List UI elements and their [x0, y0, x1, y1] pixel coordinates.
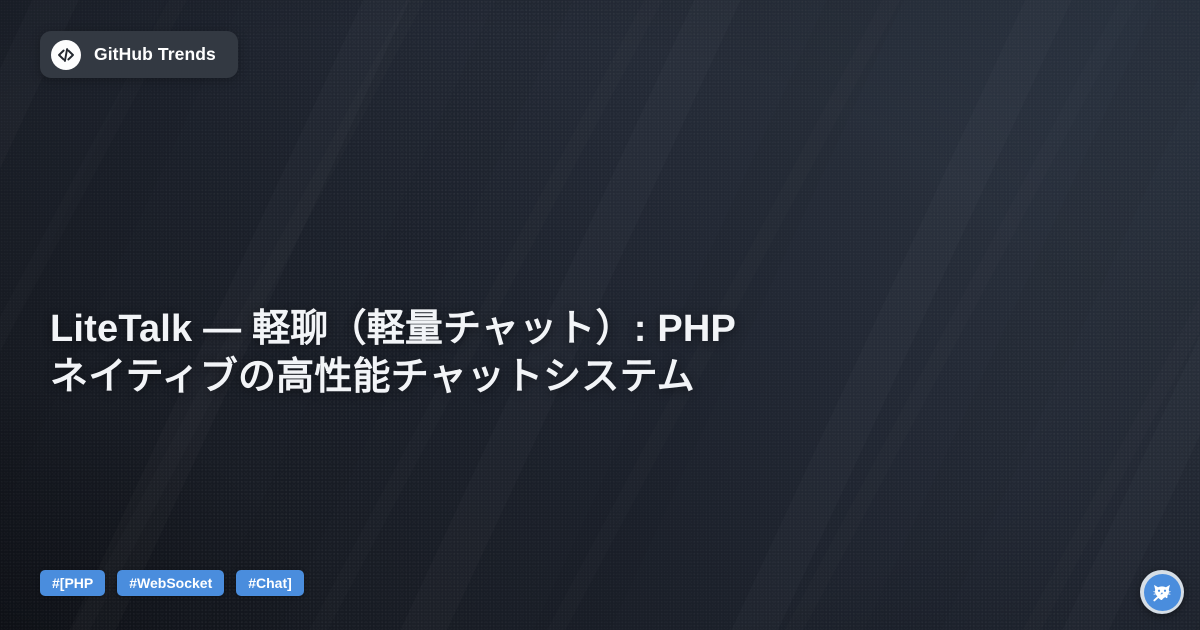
- tag-list: #[PHP #WebSocket #Chat]: [40, 570, 304, 596]
- page-title-line-1: LiteTalk — 軽聊（軽量チャット）: PHP: [50, 305, 1130, 353]
- social-share-card: GitHub Trends LiteTalk — 軽聊（軽量チャット）: PHP…: [0, 0, 1200, 630]
- card-content: GitHub Trends LiteTalk — 軽聊（軽量チャット）: PHP…: [0, 0, 1200, 630]
- brand-badge: GitHub Trends: [40, 31, 238, 78]
- page-title-line-2: ネイティブの高性能チャットシステム: [50, 353, 1130, 401]
- page-title: LiteTalk — 軽聊（軽量チャット）: PHP ネイティブの高性能チャット…: [50, 305, 1130, 402]
- cat-trend-logo-disc: [1144, 574, 1181, 611]
- code-brackets-icon: [51, 40, 81, 70]
- brand-label: GitHub Trends: [94, 44, 216, 65]
- tag-chip[interactable]: #[PHP: [40, 570, 105, 596]
- cat-trend-logo-icon: [1140, 570, 1184, 614]
- tag-chip[interactable]: #WebSocket: [117, 570, 224, 596]
- tag-chip[interactable]: #Chat]: [236, 570, 304, 596]
